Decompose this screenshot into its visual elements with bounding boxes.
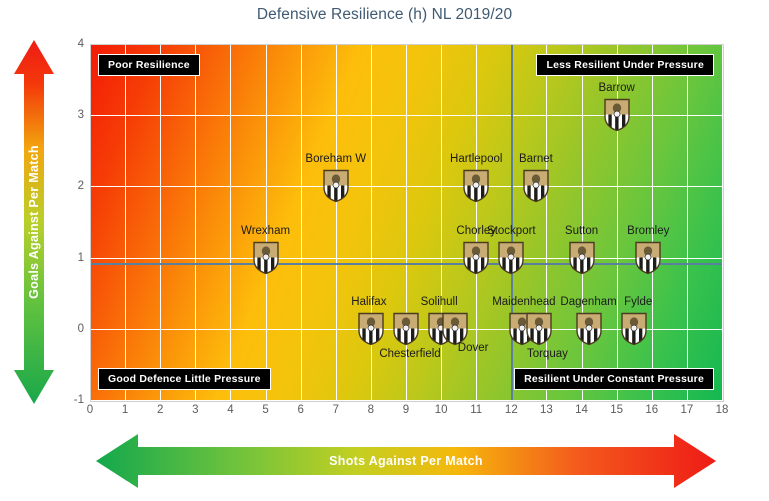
- data-point-label: Bromley: [627, 225, 669, 237]
- gridline-vertical: [546, 44, 547, 400]
- gridline-horizontal: [90, 186, 722, 187]
- x-axis-tick-label: 16: [645, 404, 658, 416]
- gridline-vertical: [336, 44, 337, 400]
- gridline-vertical: [195, 44, 196, 400]
- gridline-vertical: [617, 44, 618, 400]
- data-point-marker[interactable]: [392, 312, 420, 345]
- club-badge-icon: [392, 312, 420, 345]
- club-badge-icon: [575, 312, 603, 345]
- x-axis-tick-label: 12: [505, 404, 518, 416]
- average-line-horizontal: [90, 263, 722, 265]
- y-axis-ticks: -101234: [56, 44, 84, 400]
- average-line-vertical: [511, 44, 513, 400]
- data-point-marker[interactable]: [525, 312, 553, 345]
- x-axis-tick-label: 6: [297, 404, 303, 416]
- data-point-label: Hartlepool: [450, 153, 502, 165]
- x-axis-tick-label: 17: [680, 404, 693, 416]
- x-axis-tick-label: 8: [368, 404, 374, 416]
- x-axis-tick-label: 11: [470, 404, 482, 416]
- y-axis-arrow: [14, 40, 54, 404]
- plot-area: WrexhamBoreham WHartlepoolBarnetBarrowCh…: [90, 44, 722, 400]
- gridline-vertical: [371, 44, 372, 400]
- x-axis-tick-label: 15: [610, 404, 623, 416]
- x-axis-tick-label: 3: [192, 404, 198, 416]
- y-axis-tick-label: 4: [60, 38, 84, 50]
- data-point-marker[interactable]: [603, 99, 631, 132]
- club-badge-icon: [620, 312, 648, 345]
- club-badge-icon: [322, 170, 350, 203]
- data-point-label: Torquay: [527, 348, 568, 360]
- gridline-vertical: [406, 44, 407, 400]
- data-point-marker[interactable]: [252, 241, 280, 274]
- gridline-vertical: [160, 44, 161, 400]
- data-point-label: Stockport: [487, 225, 536, 237]
- gridline-vertical: [230, 44, 231, 400]
- club-badge-icon: [462, 241, 490, 274]
- data-point-label: Maidenhead: [492, 296, 555, 308]
- quadrant-label-top-right: Less Resilient Under Pressure: [536, 54, 714, 76]
- x-axis-arrow: [96, 434, 716, 488]
- data-point-label: Barrow: [598, 82, 634, 94]
- data-point-marker[interactable]: [357, 312, 385, 345]
- club-badge-icon: [441, 312, 469, 345]
- club-badge-icon: [252, 241, 280, 274]
- data-point-marker[interactable]: [322, 170, 350, 203]
- data-point-label: Halifax: [351, 296, 386, 308]
- x-axis-tick-label: 4: [227, 404, 233, 416]
- gridline-vertical: [687, 44, 688, 400]
- y-axis-tick-label: 1: [60, 252, 84, 264]
- gridline-vertical: [125, 44, 126, 400]
- data-point-label: Boreham W: [305, 153, 366, 165]
- gridline-horizontal: [90, 44, 722, 45]
- x-axis-tick-label: 9: [403, 404, 409, 416]
- data-point-label: Solihull: [421, 296, 458, 308]
- page-title: Defensive Resilience (h) NL 2019/20: [0, 6, 769, 24]
- club-badge-icon: [525, 312, 553, 345]
- gridline-vertical: [441, 44, 442, 400]
- x-axis-tick-label: 2: [157, 404, 163, 416]
- x-axis-tick-label: 5: [262, 404, 268, 416]
- x-axis-tick-label: 10: [435, 404, 448, 416]
- x-axis-tick-label: 14: [575, 404, 588, 416]
- club-badge-icon: [522, 170, 550, 203]
- club-badge-icon: [357, 312, 385, 345]
- data-point-marker[interactable]: [462, 241, 490, 274]
- club-badge-icon: [462, 170, 490, 203]
- data-point-marker[interactable]: [462, 170, 490, 203]
- quadrant-label-bottom-right: Resilient Under Constant Pressure: [514, 368, 714, 390]
- y-axis-tick-label: 3: [60, 109, 84, 121]
- data-point-marker[interactable]: [634, 241, 662, 274]
- x-axis-ticks: 0123456789101112131415161718: [90, 404, 722, 422]
- data-point-marker[interactable]: [522, 170, 550, 203]
- data-point-marker[interactable]: [568, 241, 596, 274]
- gridline-horizontal: [90, 258, 722, 259]
- data-point-marker[interactable]: [620, 312, 648, 345]
- data-point-label: Dover: [458, 342, 489, 354]
- gridline-vertical: [90, 44, 91, 400]
- x-axis-tick-label: 13: [540, 404, 553, 416]
- data-point-marker[interactable]: [497, 241, 525, 274]
- club-badge-icon: [568, 241, 596, 274]
- x-axis-tick-label: 7: [333, 404, 339, 416]
- data-point-label: Wrexham: [241, 225, 290, 237]
- club-badge-icon: [603, 99, 631, 132]
- x-axis-tick-label: 18: [716, 404, 729, 416]
- data-point-label: Dagenham: [560, 296, 616, 308]
- data-point-label: Barnet: [519, 153, 553, 165]
- club-badge-icon: [634, 241, 662, 274]
- gridline-vertical: [301, 44, 302, 400]
- gridline-vertical: [652, 44, 653, 400]
- data-point-label: Chesterfield: [379, 348, 440, 360]
- quadrant-label-top-left: Poor Resilience: [98, 54, 200, 76]
- data-point-marker[interactable]: [575, 312, 603, 345]
- gridline-vertical: [266, 44, 267, 400]
- club-badge-icon: [497, 241, 525, 274]
- data-point-label: Fylde: [624, 296, 652, 308]
- x-axis-tick-label: 0: [87, 404, 93, 416]
- gridline-vertical: [582, 44, 583, 400]
- data-point-marker[interactable]: [441, 312, 469, 345]
- y-axis-tick-label: -1: [60, 394, 84, 406]
- y-axis-tick-label: 0: [60, 323, 84, 335]
- x-axis-tick-label: 1: [122, 404, 128, 416]
- y-axis-tick-label: 2: [60, 180, 84, 192]
- data-point-label: Sutton: [565, 225, 598, 237]
- quadrant-label-bottom-left: Good Defence Little Pressure: [98, 368, 271, 390]
